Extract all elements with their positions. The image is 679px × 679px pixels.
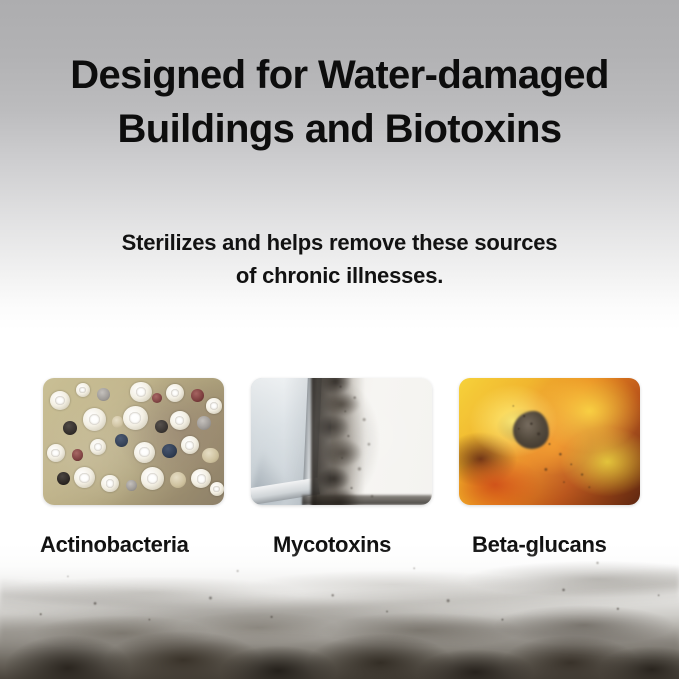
card-glow — [43, 378, 224, 505]
image-card-actinobacteria — [43, 378, 224, 505]
subtitle-line-1: Sterilizes and helps remove these source… — [122, 230, 558, 255]
image-card-beta-glucans — [459, 378, 640, 505]
wall-speck-overlay — [0, 544, 679, 679]
subtitle-line-2: of chronic illnesses. — [60, 259, 619, 292]
headline-line-2: Buildings and Biotoxins — [26, 102, 653, 156]
image-card-row — [43, 378, 640, 505]
image-card-mycotoxins — [251, 378, 432, 505]
headline-line-1: Designed for Water-damaged — [70, 53, 609, 97]
subtitle: Sterilizes and helps remove these source… — [0, 226, 679, 292]
card-glow — [251, 378, 432, 505]
page-title: Designed for Water-damaged Buildings and… — [0, 48, 679, 156]
card-glow — [459, 378, 640, 505]
poster-root: Designed for Water-damaged Buildings and… — [0, 0, 679, 679]
